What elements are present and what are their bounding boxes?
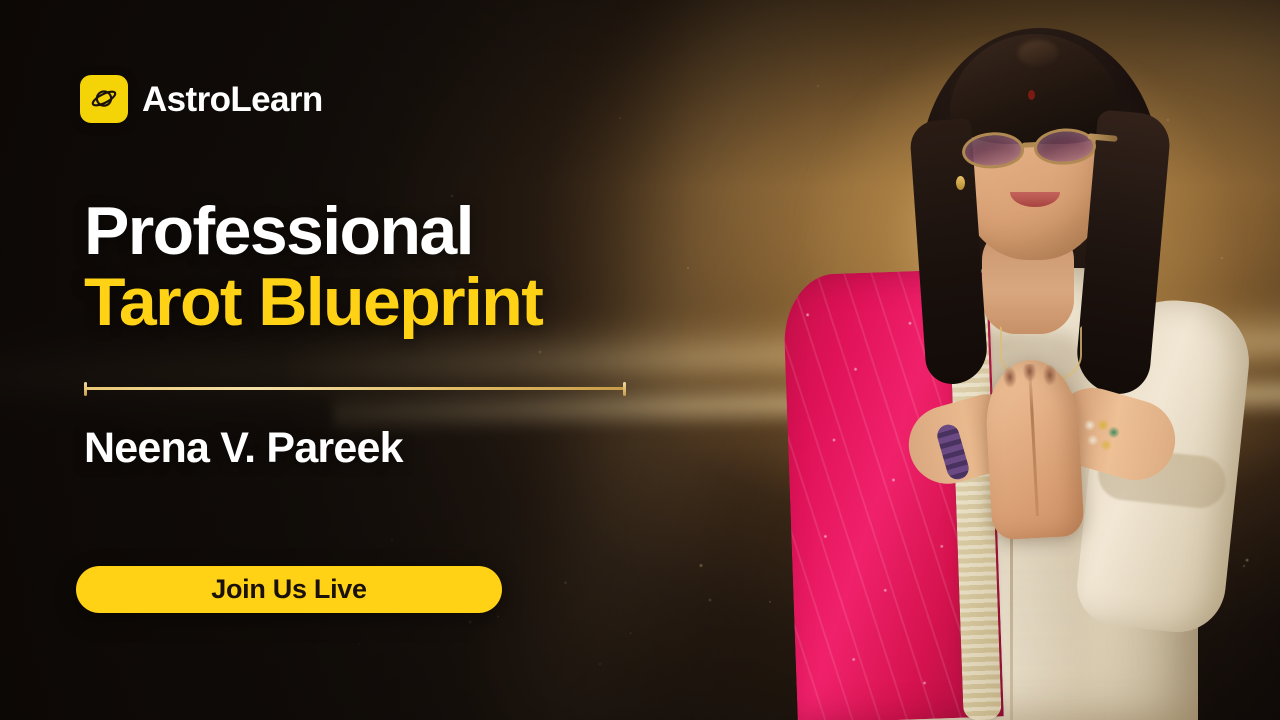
headline-line-1: Professional xyxy=(84,196,542,267)
presenter-name: Neena V. Pareek xyxy=(84,424,403,473)
sunglasses-lens-left xyxy=(961,131,1025,170)
content-column: AstroLearn Professional Tarot Blueprint … xyxy=(0,0,700,720)
divider-bar xyxy=(84,387,626,390)
brand-name: AstroLearn xyxy=(142,82,323,117)
portrait-earring xyxy=(956,176,965,190)
portrait-hair-part xyxy=(1018,40,1058,66)
divider-cap-right xyxy=(623,382,626,396)
page-title: Professional Tarot Blueprint xyxy=(84,196,542,337)
divider xyxy=(84,382,626,396)
saturn-planet-icon xyxy=(80,75,128,123)
headline-line-2: Tarot Blueprint xyxy=(84,267,542,338)
promo-banner: AstroLearn Professional Tarot Blueprint … xyxy=(0,0,1280,720)
sunglasses-icon xyxy=(959,122,1115,174)
presenter-portrait xyxy=(760,0,1280,720)
portrait-bindi xyxy=(1028,90,1035,100)
sunglasses-lens-right xyxy=(1033,127,1097,166)
brand-lockup[interactable]: AstroLearn xyxy=(80,75,323,123)
join-us-live-button[interactable]: Join Us Live xyxy=(76,566,502,613)
portrait-fingernails xyxy=(999,362,1066,395)
